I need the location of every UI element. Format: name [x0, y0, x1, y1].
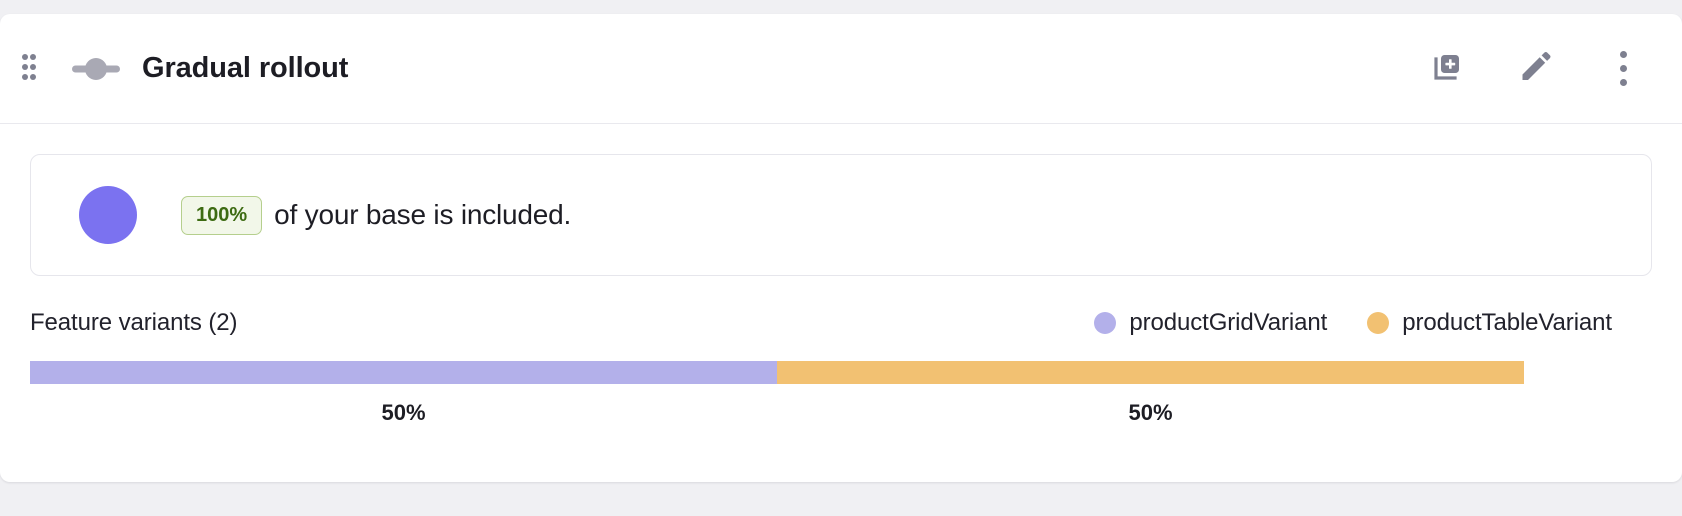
edit-button[interactable] [1514, 48, 1556, 90]
feature-variants-section: Feature variants (2) productGridVariant … [30, 306, 1652, 426]
copy-plus-icon [1427, 47, 1467, 90]
pencil-icon [1515, 47, 1555, 90]
legend-item: productGridVariant [1094, 309, 1327, 337]
included-summary-panel: 100% of your base is included. [30, 154, 1652, 276]
variant-distribution-bar [30, 361, 1524, 384]
variant-percent-labels: 50% 50% [30, 400, 1524, 426]
legend-swatch-icon [1094, 312, 1116, 334]
feature-variants-header: Feature variants (2) productGridVariant … [30, 306, 1652, 340]
drag-dots-icon[interactable] [22, 52, 48, 86]
legend-item: productTableVariant [1367, 309, 1612, 337]
legend-label: productTableVariant [1402, 309, 1612, 337]
legend-swatch-icon [1367, 312, 1389, 334]
toggle-slider-icon [70, 54, 122, 84]
variant-percent: 50% [777, 400, 1524, 426]
variant-bar-segment [777, 361, 1524, 384]
variants-legend: productGridVariant productTableVariant [1094, 309, 1652, 337]
duplicate-button[interactable] [1426, 48, 1468, 90]
variant-bar-segment [30, 361, 777, 384]
rule-card-body: 100% of your base is included. Feature v… [0, 124, 1682, 426]
audience-dot-icon [79, 186, 137, 244]
rule-card-header: Gradual rollout [0, 14, 1682, 124]
included-description: of your base is included. [274, 199, 571, 231]
kebab-menu-icon [1620, 51, 1627, 86]
legend-label: productGridVariant [1129, 309, 1327, 337]
feature-variants-label: Feature variants (2) [30, 309, 237, 337]
rollout-rule-card: Gradual rollout [0, 14, 1682, 482]
status-badge: 100% [181, 196, 262, 235]
header-actions [1426, 48, 1656, 90]
variant-percent: 50% [30, 400, 777, 426]
page-title: Gradual rollout [142, 52, 348, 85]
more-options-button[interactable] [1602, 48, 1644, 90]
